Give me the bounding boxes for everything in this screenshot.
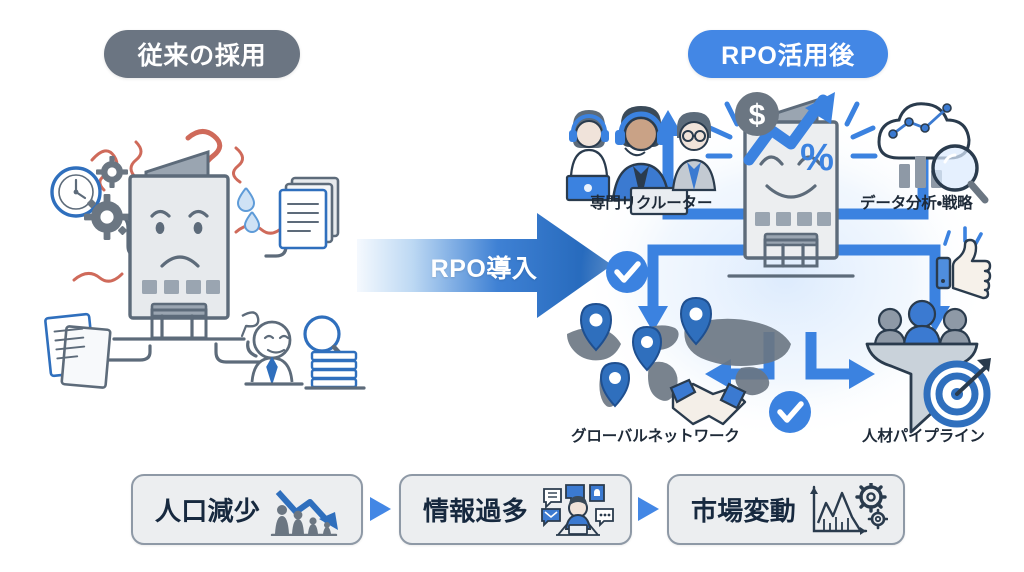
quadrant-label-data: データ分析・戦略 xyxy=(860,191,973,213)
quadrant-label-pipeline: 人材パイプライン xyxy=(862,424,985,446)
documents-stack-icon xyxy=(280,178,338,248)
rpo-benefits-scene: .bln{fill:none;stroke:#3b82e0;stroke-wid… xyxy=(545,82,1024,454)
dollar-coin-icon: $ xyxy=(735,92,779,136)
bottom-card-market: 市場変動 xyxy=(667,474,905,545)
rpo-transition-arrow-label: RPO導入 xyxy=(409,249,559,285)
quadrant-label-recruiters: 専門リクルーター xyxy=(590,191,712,213)
market-volatility-gears-icon xyxy=(806,483,888,537)
information-overload-icon xyxy=(538,483,616,537)
bottom-card-population-label: 人口減少 xyxy=(155,491,260,528)
scattered-papers-icon xyxy=(45,314,110,388)
play-triangle-icon xyxy=(635,496,661,522)
stressed-worker-icon xyxy=(246,322,302,384)
bottom-card-information: 情報過多 xyxy=(399,474,632,545)
play-triangle-icon xyxy=(367,496,393,522)
header-pill-traditional-label: 従来の採用 xyxy=(138,36,267,72)
svg-text:$: $ xyxy=(749,99,766,132)
bottom-card-population: 人口減少 xyxy=(131,474,363,545)
clock-icon xyxy=(52,168,100,216)
target-icon xyxy=(927,358,991,424)
check-badge-icon xyxy=(769,391,811,433)
bottom-card-market-label: 市場変動 xyxy=(691,491,796,528)
percent-icon: % xyxy=(800,137,834,179)
sad-company-building-icon xyxy=(114,152,244,339)
traditional-recruitment-scene: .ln{fill:none;stroke:#5d6b7a;stroke-widt… xyxy=(40,120,370,410)
book-stack-icon xyxy=(306,352,364,388)
check-badge-icon xyxy=(606,251,648,293)
quadrant-label-global: グローバルネットワーク xyxy=(571,424,740,446)
infographic-canvas: 従来の採用 RPO活用後 .ln{fill:none;stroke:#5d6b7… xyxy=(0,0,1024,572)
header-pill-traditional: 従来の採用 xyxy=(104,30,300,78)
bottom-card-information-label: 情報過多 xyxy=(423,491,528,528)
declining-population-icon xyxy=(270,484,346,536)
header-pill-rpo: RPO活用後 xyxy=(688,30,888,78)
header-pill-rpo-label: RPO活用後 xyxy=(721,36,855,72)
